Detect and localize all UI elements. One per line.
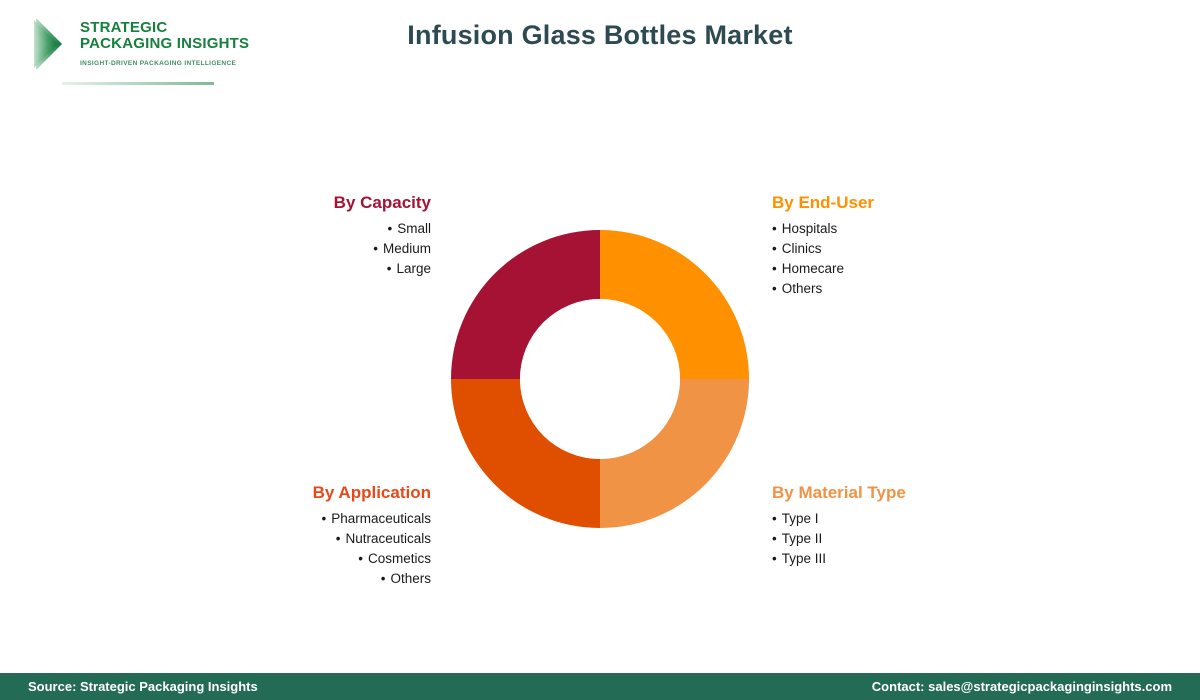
bullet-icon: •: [336, 531, 341, 546]
legend-item-label: Nutraceuticals: [345, 531, 431, 546]
legend-item-label: Type III: [782, 551, 826, 566]
legend-group-by-material-type: By Material Type •Type I •Type II •Type …: [772, 483, 1072, 569]
legend-item-label: Small: [397, 221, 431, 236]
list-item: •Medium: [200, 239, 431, 259]
list-item: •Type II: [772, 529, 1072, 549]
list-item: •Nutraceuticals: [170, 529, 431, 549]
bullet-icon: •: [373, 241, 378, 256]
legend-item-label: Cosmetics: [368, 551, 431, 566]
legend-item-label: Type I: [782, 511, 819, 526]
list-item: •Type III: [772, 549, 1072, 569]
bullet-icon: •: [772, 531, 777, 546]
list-item: •Others: [170, 569, 431, 589]
legend-item-label: Hospitals: [782, 221, 838, 236]
list-item: •Others: [772, 279, 1072, 299]
logo-underline-divider: [62, 82, 214, 85]
legend-item-label: Homecare: [782, 261, 844, 276]
legend-title-by-end-user: By End-User: [772, 193, 1072, 213]
bullet-icon: •: [381, 571, 386, 586]
legend-items-by-material-type: •Type I •Type II •Type III: [772, 509, 1072, 569]
footer-source: Source: Strategic Packaging Insights: [28, 679, 258, 694]
bullet-icon: •: [772, 511, 777, 526]
footer-bar: Source: Strategic Packaging Insights Con…: [0, 673, 1200, 700]
bullet-icon: •: [321, 511, 326, 526]
donut-center-hole: [520, 299, 680, 459]
legend-items-by-end-user: •Hospitals •Clinics •Homecare •Others: [772, 219, 1072, 299]
bullet-icon: •: [772, 221, 777, 236]
bullet-icon: •: [358, 551, 363, 566]
legend-group-by-application: By Application •Pharmaceuticals •Nutrace…: [170, 483, 431, 589]
legend-title-by-capacity: By Capacity: [200, 193, 431, 213]
bullet-icon: •: [387, 261, 392, 276]
legend-items-by-capacity: •Small •Medium •Large: [200, 219, 431, 279]
donut-chart: [451, 230, 749, 528]
legend-item-label: Pharmaceuticals: [331, 511, 431, 526]
legend-item-label: Type II: [782, 531, 823, 546]
footer-contact[interactable]: Contact: sales@strategicpackaginginsight…: [872, 679, 1172, 694]
bullet-icon: •: [772, 241, 777, 256]
list-item: •Large: [200, 259, 431, 279]
legend-item-label: Others: [390, 571, 431, 586]
bullet-icon: •: [388, 221, 393, 236]
list-item: •Homecare: [772, 259, 1072, 279]
logo-tagline: INSIGHT-DRIVEN PACKAGING INTELLIGENCE: [80, 60, 249, 67]
legend-group-by-end-user: By End-User •Hospitals •Clinics •Homecar…: [772, 193, 1072, 299]
legend-title-by-material-type: By Material Type: [772, 483, 1072, 503]
bullet-icon: •: [772, 281, 777, 296]
list-item: •Hospitals: [772, 219, 1072, 239]
list-item: •Clinics: [772, 239, 1072, 259]
list-item: •Cosmetics: [170, 549, 431, 569]
legend-item-label: Clinics: [782, 241, 822, 256]
legend-item-label: Medium: [383, 241, 431, 256]
legend-items-by-application: •Pharmaceuticals •Nutraceuticals •Cosmet…: [170, 509, 431, 589]
legend-group-by-capacity: By Capacity •Small •Medium •Large: [200, 193, 431, 279]
legend-item-label: Others: [782, 281, 823, 296]
list-item: •Type I: [772, 509, 1072, 529]
bullet-icon: •: [772, 261, 777, 276]
list-item: •Small: [200, 219, 431, 239]
legend-title-by-application: By Application: [170, 483, 431, 503]
page-title: Infusion Glass Bottles Market: [0, 20, 1200, 51]
legend-item-label: Large: [396, 261, 431, 276]
list-item: •Pharmaceuticals: [170, 509, 431, 529]
bullet-icon: •: [772, 551, 777, 566]
